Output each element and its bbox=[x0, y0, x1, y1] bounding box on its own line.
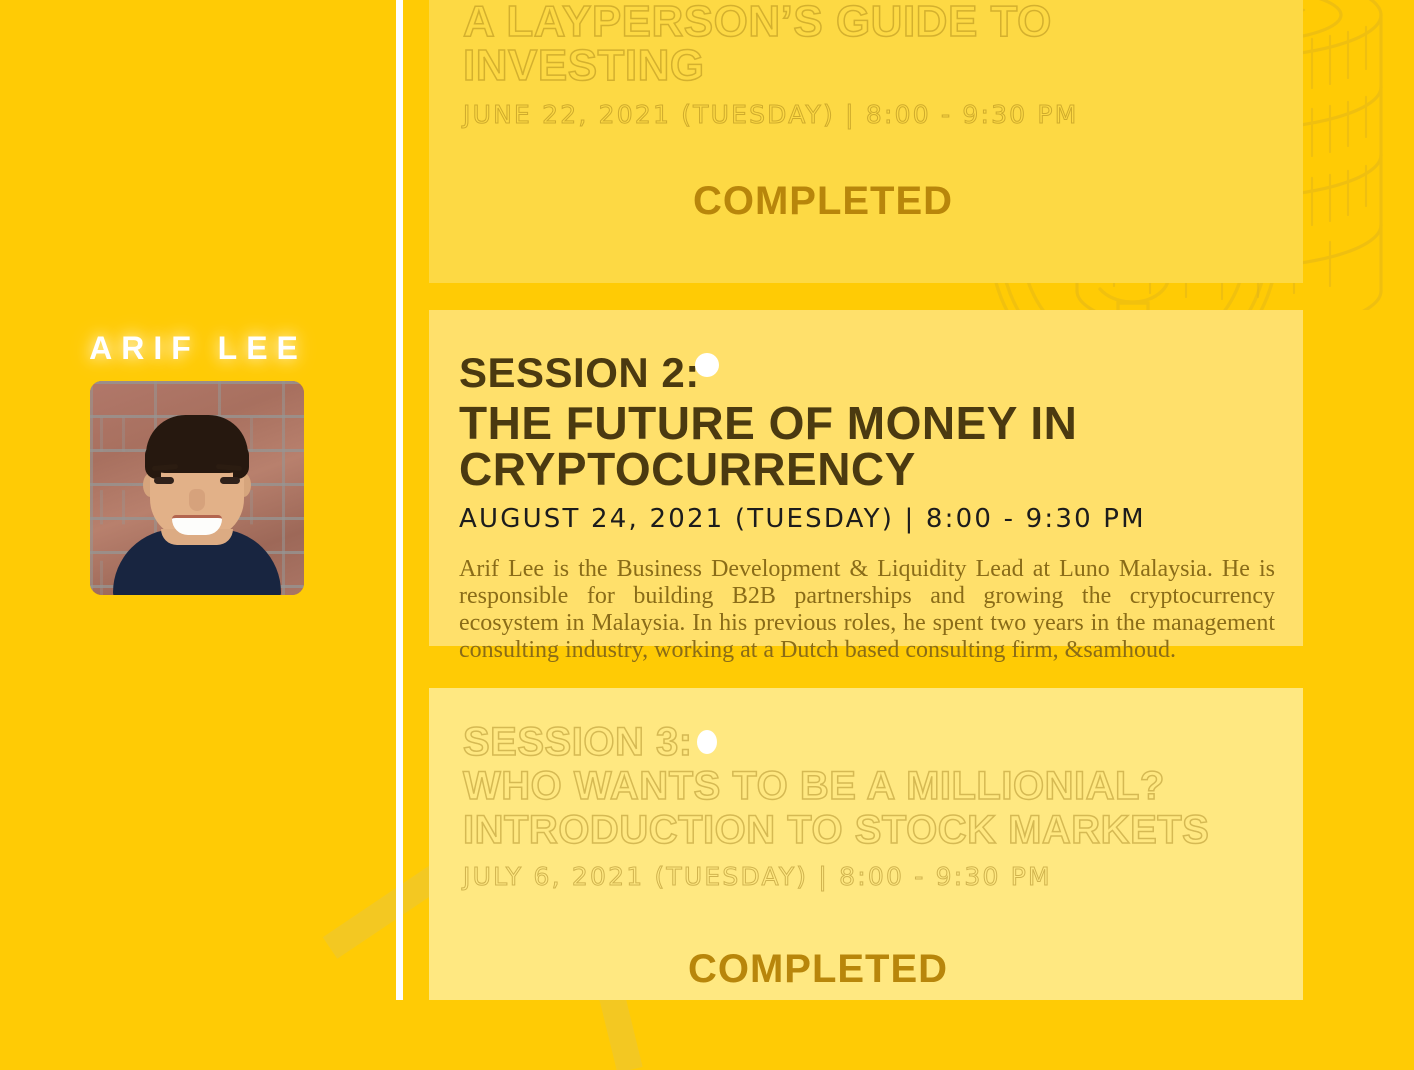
session-card-2[interactable]: SESSION 2: THE FUTURE OF MONEY IN CRYPTO… bbox=[429, 310, 1303, 646]
session-2-title: THE FUTURE OF MONEY IN CRYPTOCURRENCY bbox=[459, 400, 1271, 492]
speaker-bio: Arif Lee is the Business Development & L… bbox=[459, 556, 1275, 664]
session-card-1[interactable]: A LAYPERSON’S GUIDE TO INVESTING JUNE 22… bbox=[429, 0, 1303, 283]
session-1-date: JUNE 22, 2021 (TUESDAY) | 8:00 - 9:30 PM bbox=[463, 100, 1303, 129]
session-3-title-line1: WHO WANTS TO BE A MILLIONIAL? bbox=[463, 766, 1303, 806]
portrait-illustration bbox=[90, 381, 304, 595]
session-1-status-badge: COMPLETED bbox=[463, 179, 1303, 224]
timeline-dot-session3[interactable] bbox=[697, 730, 717, 754]
speaker-block: ARIF LEE bbox=[0, 330, 390, 595]
session-2-date: AUGUST 24, 2021 (TUESDAY) | 8:00 - 9:30 … bbox=[459, 504, 1271, 534]
session-3-title-line2: INTRODUCTION TO STOCK MARKETS bbox=[463, 810, 1303, 850]
session-card-3[interactable]: SESSION 3: WHO WANTS TO BE A MILLIONIAL?… bbox=[429, 688, 1303, 1000]
session-3-status-badge: COMPLETED bbox=[463, 947, 1303, 992]
speaker-name: ARIF LEE bbox=[89, 330, 307, 367]
timeline-rail bbox=[396, 0, 403, 1000]
session-1-title: A LAYPERSON’S GUIDE TO INVESTING bbox=[463, 0, 1303, 88]
session-3-date: JULY 6, 2021 (TUESDAY) | 8:00 - 9:30 PM bbox=[463, 862, 1303, 891]
timeline-dot-session2[interactable] bbox=[695, 353, 719, 377]
session-2-label: SESSION 2: bbox=[459, 352, 1271, 394]
session-3-label: SESSION 3: bbox=[463, 722, 1303, 762]
avatar bbox=[90, 381, 304, 595]
